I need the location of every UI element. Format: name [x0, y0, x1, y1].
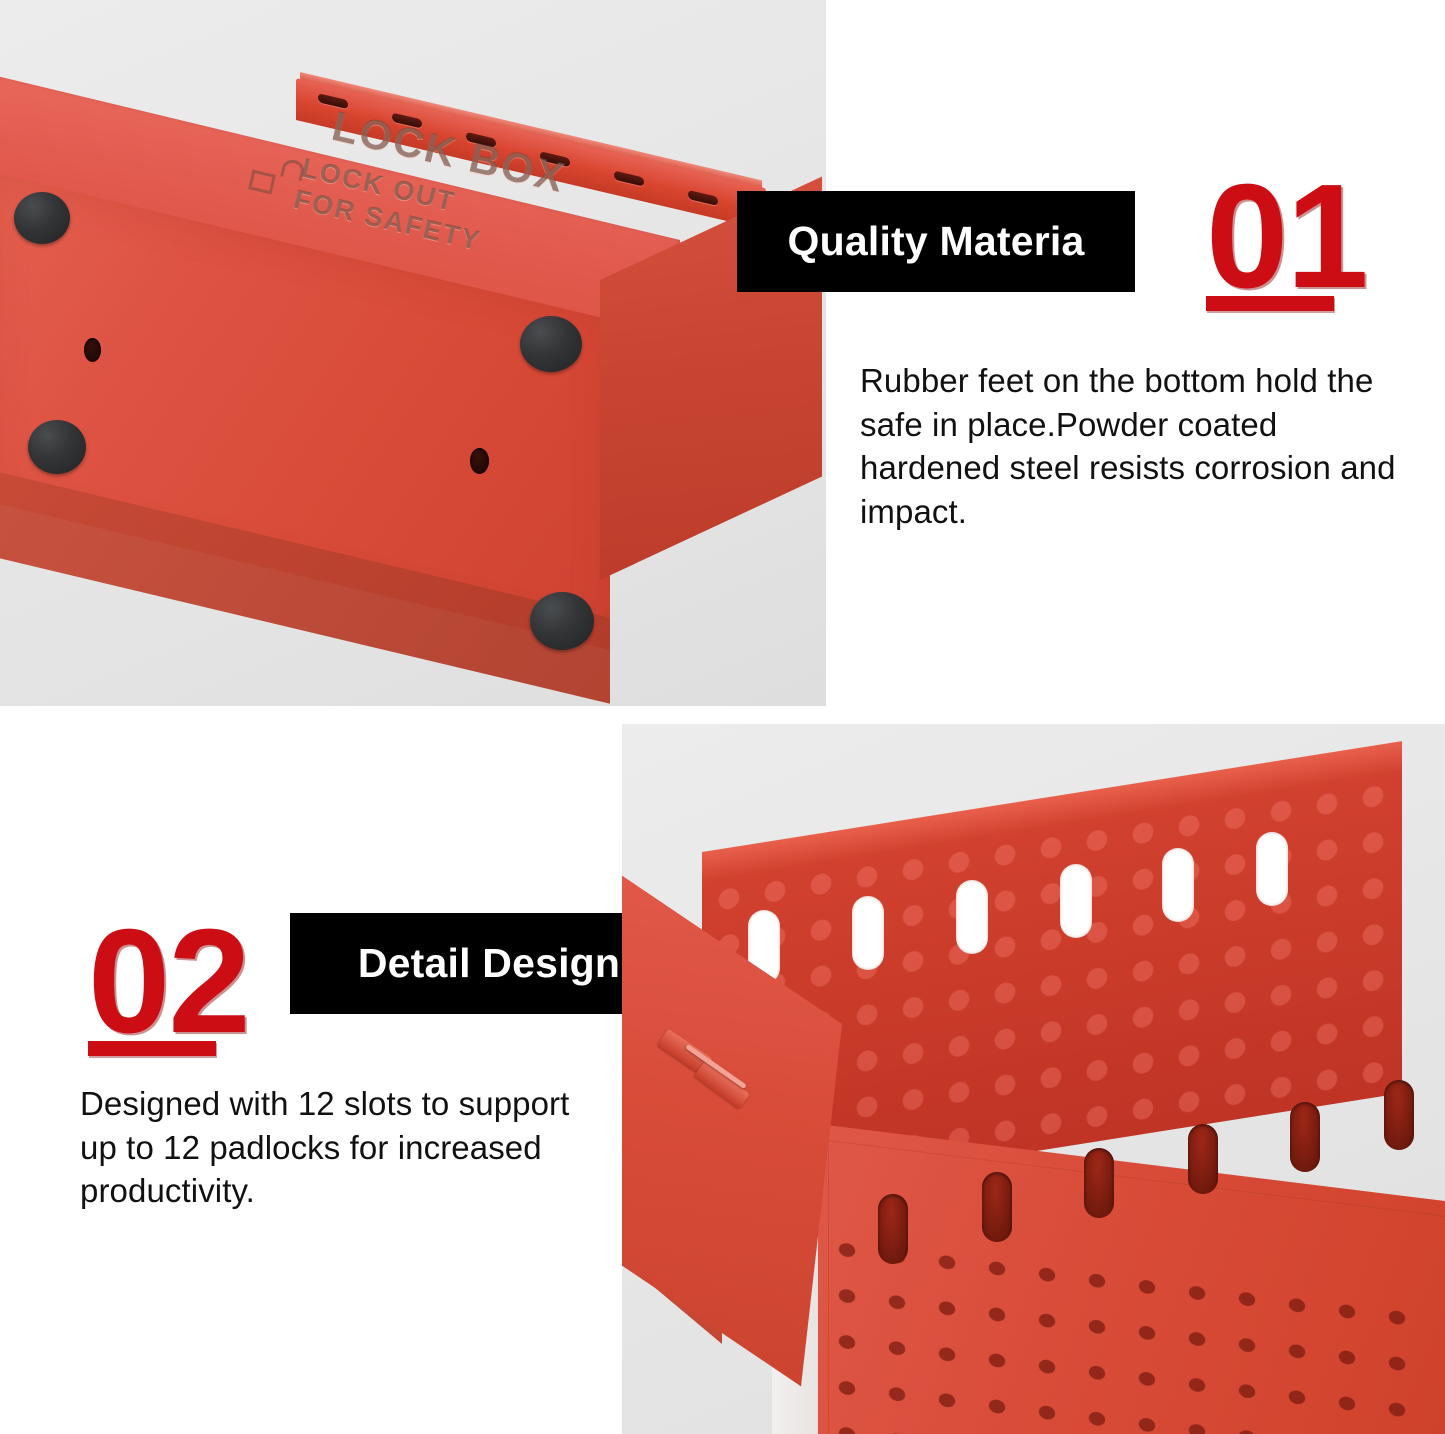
mounting-hole: [470, 448, 489, 474]
section-number-rule-02: [88, 1041, 216, 1056]
product-photo-detail-design: [622, 724, 1445, 1434]
rubber-foot: [520, 316, 582, 372]
rubber-foot: [14, 192, 70, 244]
section-number-rule-01: [1206, 296, 1334, 311]
padlock-slot: [982, 1172, 1012, 1242]
section-body-02: Designed with 12 slots to support up to …: [80, 1082, 580, 1213]
section-title-01: Quality Materia: [788, 218, 1085, 265]
padlock-slot: [1384, 1080, 1414, 1150]
rubber-foot: [530, 592, 594, 650]
padlock-slot: [1290, 1102, 1320, 1172]
padlock-slot: [1060, 864, 1092, 938]
section-title-02: Detail Design: [358, 940, 620, 987]
padlock-slot: [852, 896, 884, 970]
padlock-slot: [1084, 1148, 1114, 1218]
product-photo-quality-material: LOCK BOX LOCK OUT FOR SAFETY: [0, 0, 826, 706]
padlock-slot: [1188, 1124, 1218, 1194]
padlock-slot: [878, 1194, 908, 1264]
section-body-01: Rubber feet on the bottom hold the safe …: [860, 359, 1420, 533]
section-title-bar-01: Quality Materia: [737, 191, 1135, 292]
padlock-slot: [956, 880, 988, 954]
rubber-foot: [28, 420, 86, 474]
padlock-slot: [688, 190, 718, 206]
mounting-hole: [84, 338, 101, 362]
padlock-slot: [1256, 832, 1288, 906]
padlock-slot: [614, 171, 644, 187]
section-number-01: 01: [1206, 163, 1367, 311]
padlock-slot: [1162, 848, 1194, 922]
section-number-02: 02: [88, 908, 249, 1056]
